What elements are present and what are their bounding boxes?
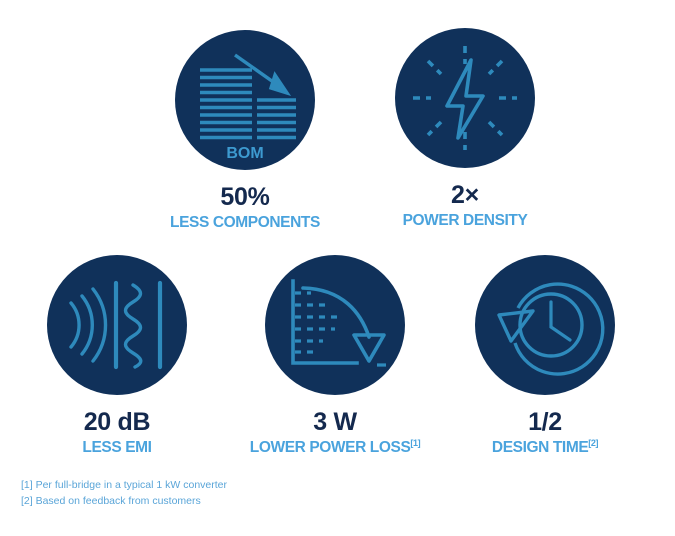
stat-footnote-marker: [2] xyxy=(588,437,598,447)
stat-less-components: BOM 50% LESS COMPONENTS xyxy=(135,30,355,231)
lightning-bolt-icon xyxy=(395,28,535,168)
emi-shield-icon xyxy=(47,255,187,395)
stat-footnote-marker: [1] xyxy=(410,437,420,447)
icon-circle-wrapper xyxy=(395,28,535,168)
stat-value: 1/2 xyxy=(435,409,655,437)
footnote-2: [2] Based on feedback from customers xyxy=(21,493,227,509)
bolt-path xyxy=(447,60,483,138)
footnote-1: [1] Per full-bridge in a typical 1 kW co… xyxy=(21,477,227,493)
stat-label: LESS EMI xyxy=(7,439,227,457)
clock-rewind-icon xyxy=(475,255,615,395)
stat-label-text: LOWER POWER LOSS xyxy=(250,439,411,456)
icon-circle-wrapper xyxy=(475,255,615,395)
stat-label-text: LESS EMI xyxy=(82,439,151,456)
footnotes: [1] Per full-bridge in a typical 1 kW co… xyxy=(21,477,227,510)
bom-reduction-icon: BOM xyxy=(175,30,315,170)
stat-label: LESS COMPONENTS xyxy=(135,214,355,232)
stat-design-time: 1/2 DESIGN TIME[2] xyxy=(435,255,655,456)
stat-power-density: 2× POWER DENSITY xyxy=(355,28,575,229)
stat-label-text: DESIGN TIME xyxy=(492,439,588,456)
icon-circle-wrapper xyxy=(265,255,405,395)
benefits-infographic: BOM 50% LESS COMPONENTS xyxy=(0,0,675,536)
stat-label: LOWER POWER LOSS[1] xyxy=(225,439,445,457)
stat-label-text: POWER DENSITY xyxy=(403,212,528,229)
stat-label: POWER DENSITY xyxy=(355,212,575,230)
stat-value: 2× xyxy=(355,182,575,210)
stat-value: 3 W xyxy=(225,409,445,437)
stat-label: DESIGN TIME[2] xyxy=(435,439,655,457)
icon-circle-wrapper: BOM xyxy=(175,30,315,170)
bom-icon-text: BOM xyxy=(226,145,263,162)
power-loss-curve-icon xyxy=(265,255,405,395)
stat-value: 20 dB xyxy=(7,409,227,437)
stat-value: 50% xyxy=(135,184,355,212)
icon-circle-wrapper xyxy=(47,255,187,395)
stat-label-text: LESS COMPONENTS xyxy=(170,214,320,231)
stat-lower-power-loss: 3 W LOWER POWER LOSS[1] xyxy=(225,255,445,456)
stat-less-emi: 20 dB LESS EMI xyxy=(7,255,227,456)
